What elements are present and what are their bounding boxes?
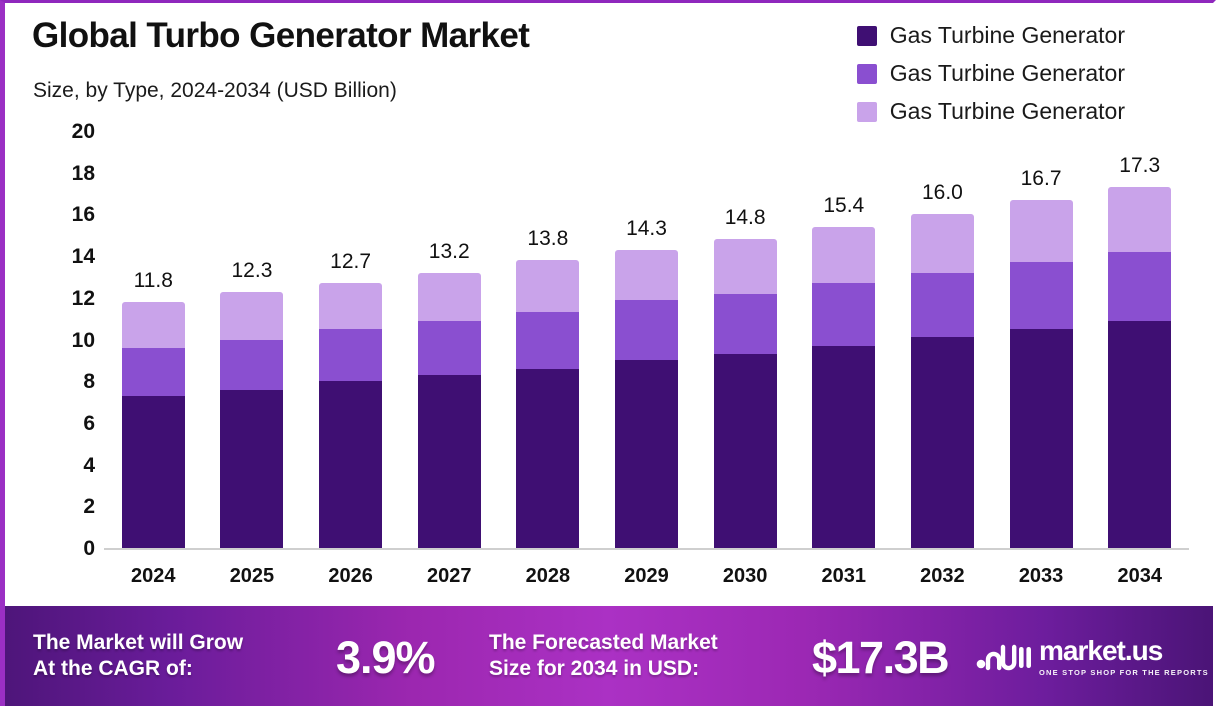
bar-segment[interactable]: [122, 396, 185, 548]
y-axis-labels: 20181614121086420: [41, 121, 95, 559]
bar-value-label: 16.7: [1021, 167, 1062, 191]
bar-value-label: 15.4: [823, 194, 864, 218]
bar-value-label: 16.0: [922, 181, 963, 205]
bar-segment[interactable]: [319, 381, 382, 548]
bar-segment[interactable]: [1108, 321, 1171, 548]
forecast-value: $17.3B: [812, 632, 948, 684]
bar-segment[interactable]: [1010, 200, 1073, 263]
x-axis-tick: 2028: [499, 565, 598, 588]
page-title: Global Turbo Generator Market: [32, 16, 529, 56]
x-axis-tick: 2024: [104, 565, 203, 588]
y-axis-tick: 12: [72, 288, 95, 309]
bar-segment[interactable]: [220, 390, 283, 548]
bar-group[interactable]: 14.8: [696, 131, 795, 548]
bar-group[interactable]: 12.3: [203, 131, 302, 548]
bar-segment[interactable]: [812, 283, 875, 346]
bar-value-label: 13.2: [429, 240, 470, 264]
legend-item[interactable]: Gas Turbine Generator: [857, 22, 1125, 49]
chart-card: Global Turbo Generator Market Size, by T…: [5, 3, 1213, 606]
bar-segment[interactable]: [516, 312, 579, 368]
bar-segment[interactable]: [714, 354, 777, 548]
stacked-bar[interactable]: [122, 302, 185, 548]
stacked-bar[interactable]: [220, 292, 283, 548]
market-us-logo-icon: [975, 641, 1031, 673]
legend-swatch-icon: [857, 64, 877, 84]
x-axis-tick: 2027: [400, 565, 499, 588]
bar-segment[interactable]: [516, 260, 579, 312]
stacked-bar[interactable]: [418, 273, 481, 548]
cagr-value: 3.9%: [336, 632, 435, 684]
subtitle-main: Size, by Type, 2024-2034: [33, 79, 271, 102]
x-axis-tick: 2029: [597, 565, 696, 588]
bar-value-label: 17.3: [1119, 154, 1160, 178]
bar-segment[interactable]: [1108, 187, 1171, 252]
legend-item[interactable]: Gas Turbine Generator: [857, 60, 1125, 87]
stacked-bar[interactable]: [714, 239, 777, 548]
bar-segment[interactable]: [122, 348, 185, 396]
bar-group[interactable]: 11.8: [104, 131, 203, 548]
bar-segment[interactable]: [911, 337, 974, 548]
bar-value-label: 13.8: [527, 227, 568, 251]
legend-item-label: Gas Turbine Generator: [890, 60, 1125, 87]
stacked-bar[interactable]: [1010, 200, 1073, 548]
bar-segment[interactable]: [714, 239, 777, 293]
bar-value-label: 12.7: [330, 250, 371, 274]
y-axis-tick: 20: [72, 121, 95, 142]
bar-segment[interactable]: [714, 294, 777, 354]
infographic-root: Global Turbo Generator Market Size, by T…: [0, 0, 1216, 706]
x-axis-tick: 2030: [696, 565, 795, 588]
bar-segment[interactable]: [418, 321, 481, 375]
bar-group[interactable]: 12.7: [301, 131, 400, 548]
x-axis-tick: 2031: [794, 565, 893, 588]
x-axis-tick: 2034: [1090, 565, 1189, 588]
bar-group[interactable]: 16.0: [893, 131, 992, 548]
bar-segment[interactable]: [911, 273, 974, 338]
bar-segment[interactable]: [516, 369, 579, 548]
x-axis-tick: 2032: [893, 565, 992, 588]
x-axis-labels: 2024202520262027202820292030203120322033…: [104, 565, 1189, 588]
bar-group[interactable]: 14.3: [597, 131, 696, 548]
bar-segment[interactable]: [911, 214, 974, 272]
subtitle-unit: (USD Billion): [277, 79, 397, 102]
forecast-label: The Forecasted Market Size for 2034 in U…: [489, 630, 718, 683]
y-axis-tick: 0: [83, 538, 95, 559]
bar-segment[interactable]: [615, 360, 678, 548]
bar-value-label: 11.8: [134, 269, 173, 293]
bar-group[interactable]: 16.7: [992, 131, 1091, 548]
x-axis-line: [104, 548, 1189, 550]
bar-value-label: 12.3: [232, 259, 273, 283]
y-axis-tick: 6: [83, 413, 95, 434]
bar-value-label: 14.3: [626, 217, 667, 241]
x-axis-tick: 2025: [203, 565, 302, 588]
legend-item[interactable]: Gas Turbine Generator: [857, 98, 1125, 125]
y-axis-tick: 10: [72, 330, 95, 351]
bar-group[interactable]: 17.3: [1090, 131, 1189, 548]
stacked-bar[interactable]: [319, 283, 382, 548]
bar-group[interactable]: 15.4: [794, 131, 893, 548]
bar-segment[interactable]: [615, 300, 678, 360]
market-us-logo[interactable]: market.us ONE STOP SHOP FOR THE REPORTS: [975, 637, 1209, 677]
cagr-label: The Market will Grow At the CAGR of:: [33, 630, 243, 683]
page-subtitle: Size, by Type, 2024-2034 (USD Billion): [33, 79, 397, 103]
bar-segment[interactable]: [812, 227, 875, 283]
bar-group[interactable]: 13.8: [499, 131, 598, 548]
bar-segment[interactable]: [812, 346, 875, 548]
stacked-bar[interactable]: [812, 227, 875, 548]
stacked-bar[interactable]: [516, 260, 579, 548]
legend-item-label: Gas Turbine Generator: [890, 22, 1125, 49]
legend-item-label: Gas Turbine Generator: [890, 98, 1125, 125]
stacked-bar[interactable]: [911, 214, 974, 548]
y-axis-tick: 16: [72, 204, 95, 225]
bar-value-label: 14.8: [725, 206, 766, 230]
y-axis-tick: 14: [72, 246, 95, 267]
y-axis-tick: 4: [83, 455, 95, 476]
bar-segment[interactable]: [418, 375, 481, 548]
bar-segment[interactable]: [220, 292, 283, 340]
bar-segment[interactable]: [319, 283, 382, 329]
logo-tagline: ONE STOP SHOP FOR THE REPORTS: [1039, 668, 1209, 677]
bar-segment[interactable]: [220, 340, 283, 390]
bar-segment[interactable]: [1108, 252, 1171, 321]
legend-swatch-icon: [857, 26, 877, 46]
bar-segment[interactable]: [122, 302, 185, 348]
bar-group[interactable]: 13.2: [400, 131, 499, 548]
y-axis-tick: 2: [83, 496, 95, 517]
x-axis-tick: 2026: [301, 565, 400, 588]
stacked-bar[interactable]: [615, 250, 678, 548]
bar-segment[interactable]: [418, 273, 481, 321]
legend-swatch-icon: [857, 102, 877, 122]
bar-segment[interactable]: [319, 329, 382, 381]
y-axis-tick: 18: [72, 163, 95, 184]
chart-legend: Gas Turbine Generator Gas Turbine Genera…: [857, 22, 1125, 125]
bar-segment[interactable]: [1010, 329, 1073, 548]
y-axis-tick: 8: [83, 371, 95, 392]
logo-name: market.us: [1039, 637, 1162, 665]
stacked-bar[interactable]: [1108, 187, 1171, 548]
bar-chart-plot: 11.812.312.713.213.814.314.815.416.016.7…: [104, 131, 1189, 548]
x-axis-tick: 2033: [992, 565, 1091, 588]
bar-segment[interactable]: [615, 250, 678, 300]
bar-segment[interactable]: [1010, 262, 1073, 329]
